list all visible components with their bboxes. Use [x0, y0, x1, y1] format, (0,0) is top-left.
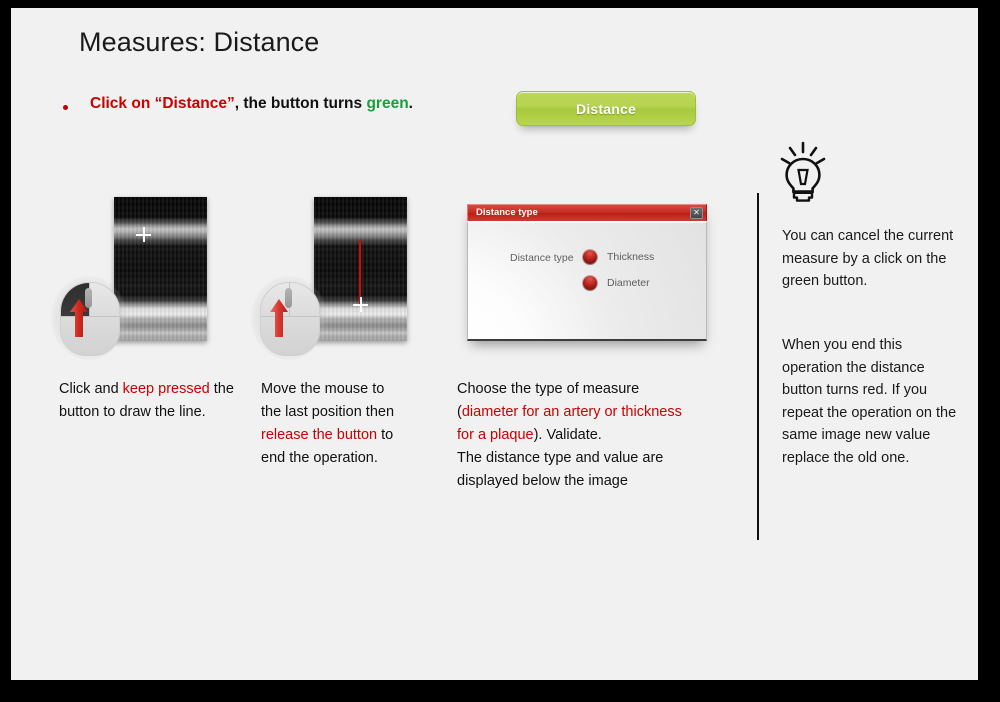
mouse-icon-left-pressed: [60, 282, 118, 354]
caption-2-part-b: release the button: [261, 427, 377, 443]
caption-choose-type: Choose the type of measure (diameter for…: [457, 378, 697, 493]
lightbulb-icon: [780, 141, 826, 203]
bullet-row: Click on “Distance”, the button turns gr…: [63, 95, 493, 125]
bullet-text-black-2: .: [409, 95, 413, 112]
caption-move-and-release: Move the mouse to the last position then…: [261, 378, 406, 470]
mouse-right-button: [290, 283, 319, 317]
mouse-icon-left-released: [260, 282, 318, 354]
radio-option-thickness[interactable]: Thickness: [583, 250, 654, 264]
tip-paragraph-1: You can cancel the current measure by a …: [782, 225, 957, 293]
crosshair-cursor-icon: [136, 227, 151, 242]
dialog-title: Distance type: [476, 207, 538, 218]
caption-3-part-c: ). Validate.: [534, 427, 602, 443]
close-icon[interactable]: ✕: [690, 207, 703, 219]
ultrasound-image-1: [114, 197, 207, 341]
dialog-field-label: Distance type: [510, 252, 574, 264]
figure-click-and-hold: [95, 197, 245, 357]
radio-label-thickness: Thickness: [607, 251, 654, 263]
bullet-text-red: Click on “Distance”: [90, 95, 235, 112]
bullet-text-green: green: [366, 95, 408, 112]
close-glyph: ✕: [693, 209, 700, 217]
crosshair-cursor-icon: [353, 297, 368, 312]
radio-dot-icon[interactable]: [583, 276, 597, 290]
dialog-body: Distance type Thickness Diameter: [467, 221, 707, 341]
bullet-text: Click on “Distance”, the button turns gr…: [90, 95, 413, 113]
distance-type-dialog: Distance type ✕ Distance type Thickness …: [467, 204, 707, 341]
bullet-dot-icon: [63, 105, 68, 110]
caption-1-part-b: keep pressed: [123, 381, 210, 397]
radio-dot-icon[interactable]: [583, 250, 597, 264]
bullet-text-black-1: , the button turns: [235, 95, 367, 112]
radio-label-diameter: Diameter: [607, 277, 650, 289]
radio-option-diameter[interactable]: Diameter: [583, 276, 650, 290]
dialog-titlebar: Distance type ✕: [467, 204, 707, 221]
mouse-right-button: [90, 283, 119, 317]
figure-move-and-release: [295, 197, 445, 357]
tip-paragraph-2: When you end this operation the distance…: [782, 334, 957, 469]
caption-click-and-hold: Click and keep pressed the button to dra…: [59, 378, 234, 424]
red-up-arrow-icon: [269, 298, 289, 338]
caption-2-part-a: Move the mouse to the last position then: [261, 381, 394, 420]
distance-button-label: Distance: [576, 101, 636, 117]
caption-3-part-d: The distance type and value are displaye…: [457, 450, 663, 489]
distance-button[interactable]: Distance: [516, 91, 696, 126]
slide-canvas: Measures: Distance Click on “Distance”, …: [11, 8, 978, 680]
page-title: Measures: Distance: [79, 27, 319, 58]
slide-frame: Measures: Distance Click on “Distance”, …: [0, 0, 1000, 702]
vertical-divider: [757, 193, 759, 540]
caption-1-part-a: Click and: [59, 381, 123, 397]
red-up-arrow-icon: [69, 298, 89, 338]
